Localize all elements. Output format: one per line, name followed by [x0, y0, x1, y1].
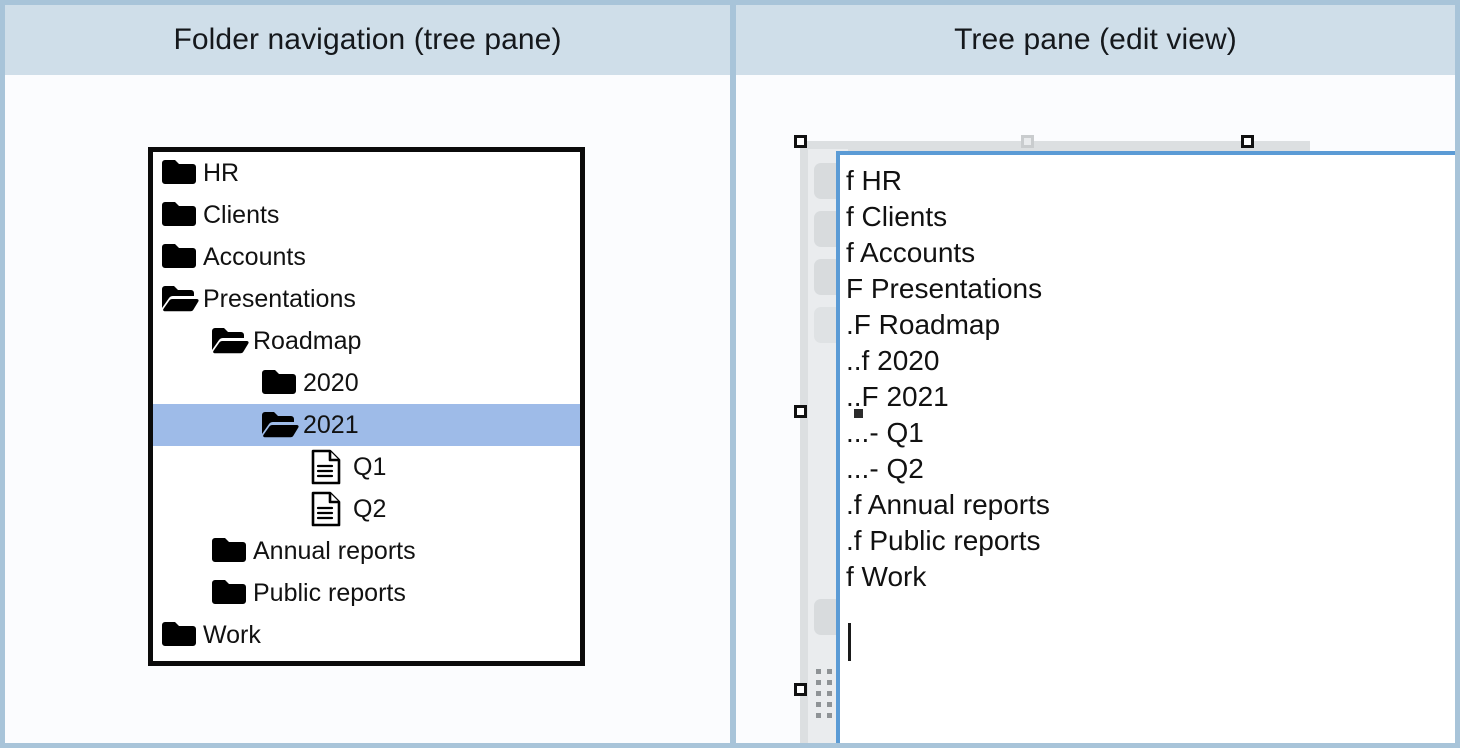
editor-line: .f Public reports: [846, 523, 1460, 559]
handle-middle-left[interactable]: [794, 405, 807, 418]
tree-row-label: Work: [203, 621, 261, 650]
folder-open-icon: [261, 409, 301, 441]
handle-top-center[interactable]: [1021, 135, 1034, 148]
folder-closed-icon: [261, 367, 301, 399]
editor-line: .F Roadmap: [846, 307, 1460, 343]
tree-row[interactable]: Q2: [153, 488, 580, 530]
editor-line: ...- Q2: [846, 451, 1460, 487]
folder-closed-icon: [161, 157, 201, 189]
grip-dot: [827, 680, 832, 685]
folder-open-icon: [211, 325, 251, 357]
tree-row-label: Accounts: [203, 243, 306, 272]
figure-root: Folder navigation (tree pane) Tree pane …: [0, 0, 1460, 748]
editor-line: f Work: [846, 559, 1460, 595]
editor-line: .f Annual reports: [846, 487, 1460, 523]
grip-dot: [816, 702, 821, 707]
right-pane-body: f HRf Clientsf AccountsF Presentations.F…: [736, 75, 1455, 743]
tree-row[interactable]: Annual reports: [153, 530, 580, 572]
tree-row[interactable]: Q1: [153, 446, 580, 488]
tree-row[interactable]: Roadmap: [153, 320, 580, 362]
handle-top-right[interactable]: [1241, 135, 1254, 148]
folder-closed-icon: [161, 619, 201, 651]
tree-row[interactable]: Work: [153, 614, 580, 656]
tree-row[interactable]: Public reports: [153, 572, 580, 614]
tree-row[interactable]: Accounts: [153, 236, 580, 278]
handle-right-dot[interactable]: [854, 409, 863, 418]
document-icon: [311, 451, 351, 483]
tree-row[interactable]: 2020: [153, 362, 580, 404]
document-icon: [311, 493, 351, 525]
tree-row-label: Public reports: [253, 579, 406, 608]
handle-top-left[interactable]: [794, 135, 807, 148]
tree-row-label: Clients: [203, 201, 279, 230]
tree-row-label: Presentations: [203, 285, 356, 314]
editor-line: f Accounts: [846, 235, 1460, 271]
grip-dot: [816, 691, 821, 696]
tree-text-editor[interactable]: f HRf Clientsf AccountsF Presentations.F…: [836, 151, 1460, 748]
tree-row-label: Q1: [353, 453, 386, 482]
folder-closed-icon: [211, 577, 251, 609]
editor-line: f Clients: [846, 199, 1460, 235]
editor-line: F Presentations: [846, 271, 1460, 307]
grip-dot: [827, 713, 832, 718]
grip-dot: [827, 702, 832, 707]
right-pane-title: Tree pane (edit view): [954, 23, 1237, 57]
folder-closed-icon: [161, 241, 201, 273]
tree-row-label: 2021: [303, 411, 359, 440]
grip-dot: [816, 713, 821, 718]
tree-row-label: Roadmap: [253, 327, 361, 356]
folder-closed-icon: [211, 535, 251, 567]
tree-row[interactable]: Clients: [153, 194, 580, 236]
handle-bottom-left[interactable]: [794, 683, 807, 696]
left-pane-title: Folder navigation (tree pane): [173, 23, 561, 57]
editor-line: ...- Q1: [846, 415, 1460, 451]
folder-closed-icon: [161, 199, 201, 231]
grip-dot: [816, 680, 821, 685]
grip-dot: [827, 669, 832, 674]
editor-text-content: f HRf Clientsf AccountsF Presentations.F…: [846, 163, 1460, 595]
left-pane-body: HRClientsAccountsPresentationsRoadmap202…: [5, 75, 730, 743]
left-pane-header: Folder navigation (tree pane): [5, 5, 730, 75]
tree-row-label: 2020: [303, 369, 359, 398]
tree-row-label: HR: [203, 159, 239, 188]
folder-open-icon: [161, 283, 201, 315]
tree-row[interactable]: 2021: [153, 404, 580, 446]
right-pane-header: Tree pane (edit view): [736, 5, 1455, 75]
grip-dot: [816, 669, 821, 674]
editor-line: ..F 2021: [846, 379, 1460, 415]
editor-line: f HR: [846, 163, 1460, 199]
text-caret: [848, 623, 851, 661]
grip-dot: [827, 691, 832, 696]
tree-row-label: Annual reports: [253, 537, 416, 566]
tree-row[interactable]: Presentations: [153, 278, 580, 320]
folder-tree[interactable]: HRClientsAccountsPresentationsRoadmap202…: [148, 147, 585, 666]
tree-row[interactable]: HR: [153, 152, 580, 194]
editor-line: ..f 2020: [846, 343, 1460, 379]
tree-row-label: Q2: [353, 495, 386, 524]
